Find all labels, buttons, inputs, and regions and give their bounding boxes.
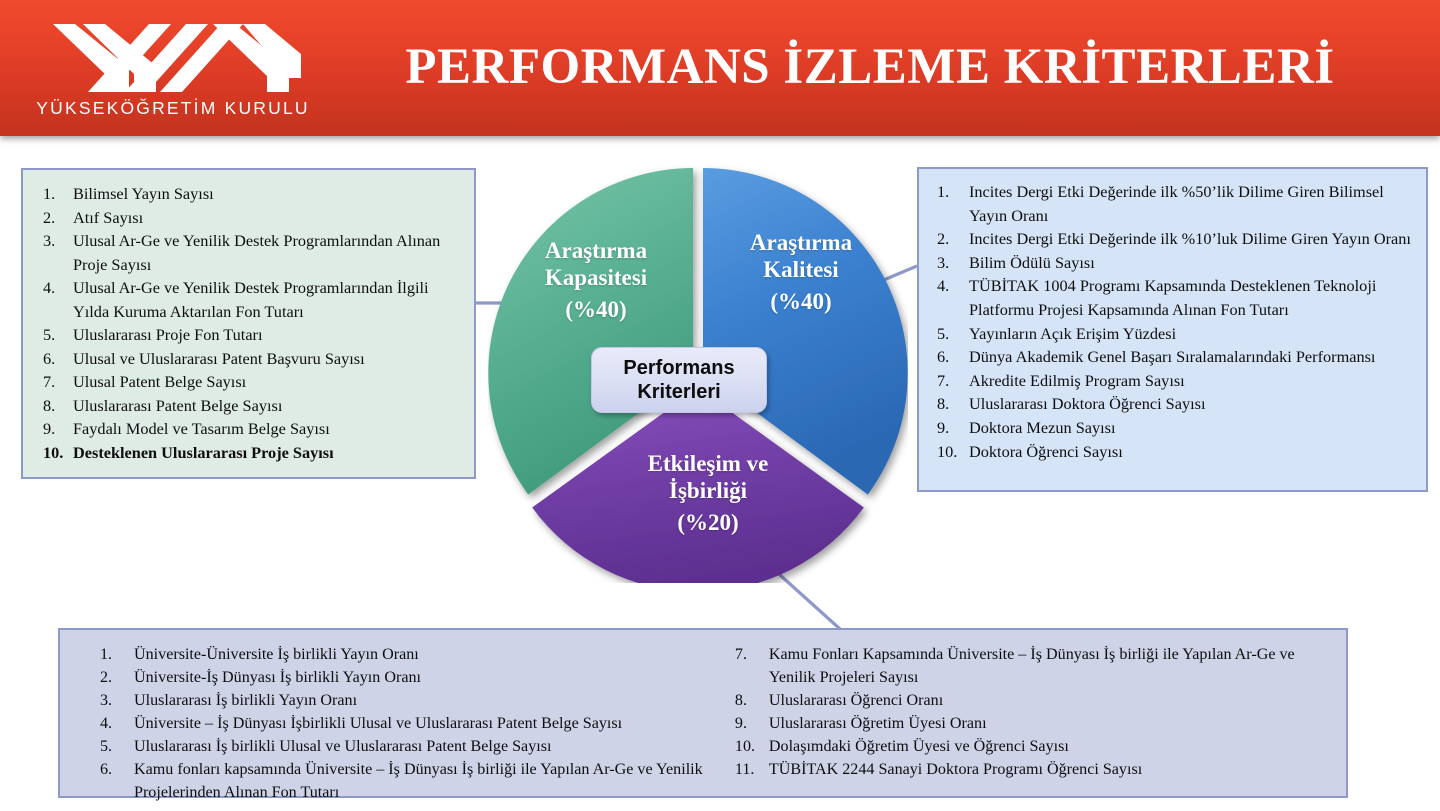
criteria-item: Atıf Sayısı [43, 206, 462, 230]
slice-label-line1: Araştırma [750, 230, 852, 255]
criteria-item: Ulusal Ar-Ge ve Yenilik Destek Programla… [43, 276, 462, 323]
yok-logo-icon [53, 22, 301, 94]
criteria-item: Kamu fonları kapsamında Üniversite – İş … [100, 759, 721, 805]
criteria-item: Faydalı Model ve Tasarım Belge Sayısı [43, 417, 462, 441]
criteria-item: Ulusal ve Uluslararası Patent Başvuru Sa… [43, 347, 462, 371]
criteria-column-right: Kamu Fonları Kapsamında Üniversite – İş … [735, 644, 1340, 804]
center-label-line2: Kriterleri [637, 381, 720, 403]
slice-label-line2: Kalitesi [763, 257, 838, 282]
pie-center-label: Performans Kriterleri [591, 347, 767, 413]
criteria-item: Incites Dergi Etki Değerinde ilk %10’luk… [937, 227, 1418, 251]
criteria-item: Akredite Edilmiş Program Sayısı [937, 369, 1418, 393]
criteria-item: Uluslararası İş birlikli Ulusal ve Ulusl… [100, 736, 721, 759]
criteria-item: Dolaşımdaki Öğretim Üyesi ve Öğrenci Say… [735, 736, 1340, 759]
criteria-item: Incites Dergi Etki Değerinde ilk %50’lik… [937, 180, 1418, 227]
slice-label-line1: Etkileşim ve [648, 451, 769, 476]
criteria-item: Bilim Ödülü Sayısı [937, 251, 1418, 275]
yok-logo-text: YÜKSEKÖĞRETİM KURULU [33, 98, 313, 119]
criteria-list-interaction-left: Üniversite-Üniversite İş birlikli Yayın … [100, 644, 721, 804]
performance-pie-chart: Araştırma Kapasitesi (%40) Araştırma Kal… [488, 163, 908, 583]
slice-percent: (%20) [608, 509, 808, 536]
criteria-item: Bilimsel Yayın Sayısı [43, 182, 462, 206]
criteria-item: Ulusal Ar-Ge ve Yenilik Destek Programla… [43, 229, 462, 276]
criteria-item: Yayınların Açık Erişim Yüzdesi [937, 322, 1418, 346]
criteria-item: Dünya Akademik Genel Başarı Sıralamaları… [937, 345, 1418, 369]
criteria-item: Üniversite-İş Dünyası İş birlikli Yayın … [100, 667, 721, 690]
criteria-list-research-quality: Incites Dergi Etki Değerinde ilk %50’lik… [937, 180, 1418, 463]
slide-canvas: YÜKSEKÖĞRETİM KURULU PERFORMANS İZLEME K… [0, 0, 1440, 811]
pie-label-interaction-collaboration: Etkileşim ve İşbirliği (%20) [608, 450, 808, 536]
criteria-box-interaction-collaboration: Üniversite-Üniversite İş birlikli Yayın … [58, 628, 1348, 798]
criteria-box-research-quality: Incites Dergi Etki Değerinde ilk %50’lik… [917, 167, 1428, 492]
page-title: PERFORMANS İZLEME KRİTERLERİ [330, 30, 1410, 104]
slice-label-line1: Araştırma [545, 238, 647, 263]
pie-label-research-quality: Araştırma Kalitesi (%40) [706, 229, 896, 315]
slide-header: YÜKSEKÖĞRETİM KURULU PERFORMANS İZLEME K… [0, 0, 1440, 136]
criteria-list-research-capacity: Bilimsel Yayın SayısıAtıf SayısıUlusal A… [43, 182, 462, 465]
criteria-item: Desteklenen Uluslararası Proje Sayısı [43, 441, 462, 465]
criteria-column-left: Üniversite-Üniversite İş birlikli Yayın … [100, 644, 721, 804]
pie-label-research-capacity: Araştırma Kapasitesi (%40) [506, 237, 686, 323]
criteria-item: Uluslararası Patent Belge Sayısı [43, 394, 462, 418]
criteria-item: TÜBİTAK 1004 Programı Kapsamında Destekl… [937, 274, 1418, 321]
criteria-box-research-capacity: Bilimsel Yayın SayısıAtıf SayısıUlusal A… [21, 168, 476, 479]
center-label-line1: Performans [623, 357, 734, 379]
criteria-item: Uluslararası Öğrenci Oranı [735, 690, 1340, 713]
slice-label-line2: İşbirliği [669, 478, 747, 503]
criteria-item: Uluslararası İş birlikli Yayın Oranı [100, 690, 721, 713]
criteria-item: Uluslararası Doktora Öğrenci Sayısı [937, 392, 1418, 416]
slice-percent: (%40) [706, 288, 896, 315]
criteria-item: Kamu Fonları Kapsamında Üniversite – İş … [735, 644, 1340, 690]
criteria-item: Uluslararası Proje Fon Tutarı [43, 323, 462, 347]
criteria-item: Uluslararası Öğretim Üyesi Oranı [735, 713, 1340, 736]
criteria-item: TÜBİTAK 2244 Sanayi Doktora Programı Öğr… [735, 759, 1340, 782]
criteria-item: Ulusal Patent Belge Sayısı [43, 370, 462, 394]
criteria-list-interaction-right: Kamu Fonları Kapsamında Üniversite – İş … [735, 644, 1340, 782]
criteria-item: Doktora Öğrenci Sayısı [937, 440, 1418, 464]
criteria-item: Doktora Mezun Sayısı [937, 416, 1418, 440]
criteria-item: Üniversite-Üniversite İş birlikli Yayın … [100, 644, 721, 667]
slice-label-line2: Kapasitesi [545, 265, 647, 290]
yok-logo: YÜKSEKÖĞRETİM KURULU [33, 22, 313, 120]
slice-percent: (%40) [506, 296, 686, 323]
criteria-item: Üniversite – İş Dünyası İşbirlikli Ulusa… [100, 713, 721, 736]
